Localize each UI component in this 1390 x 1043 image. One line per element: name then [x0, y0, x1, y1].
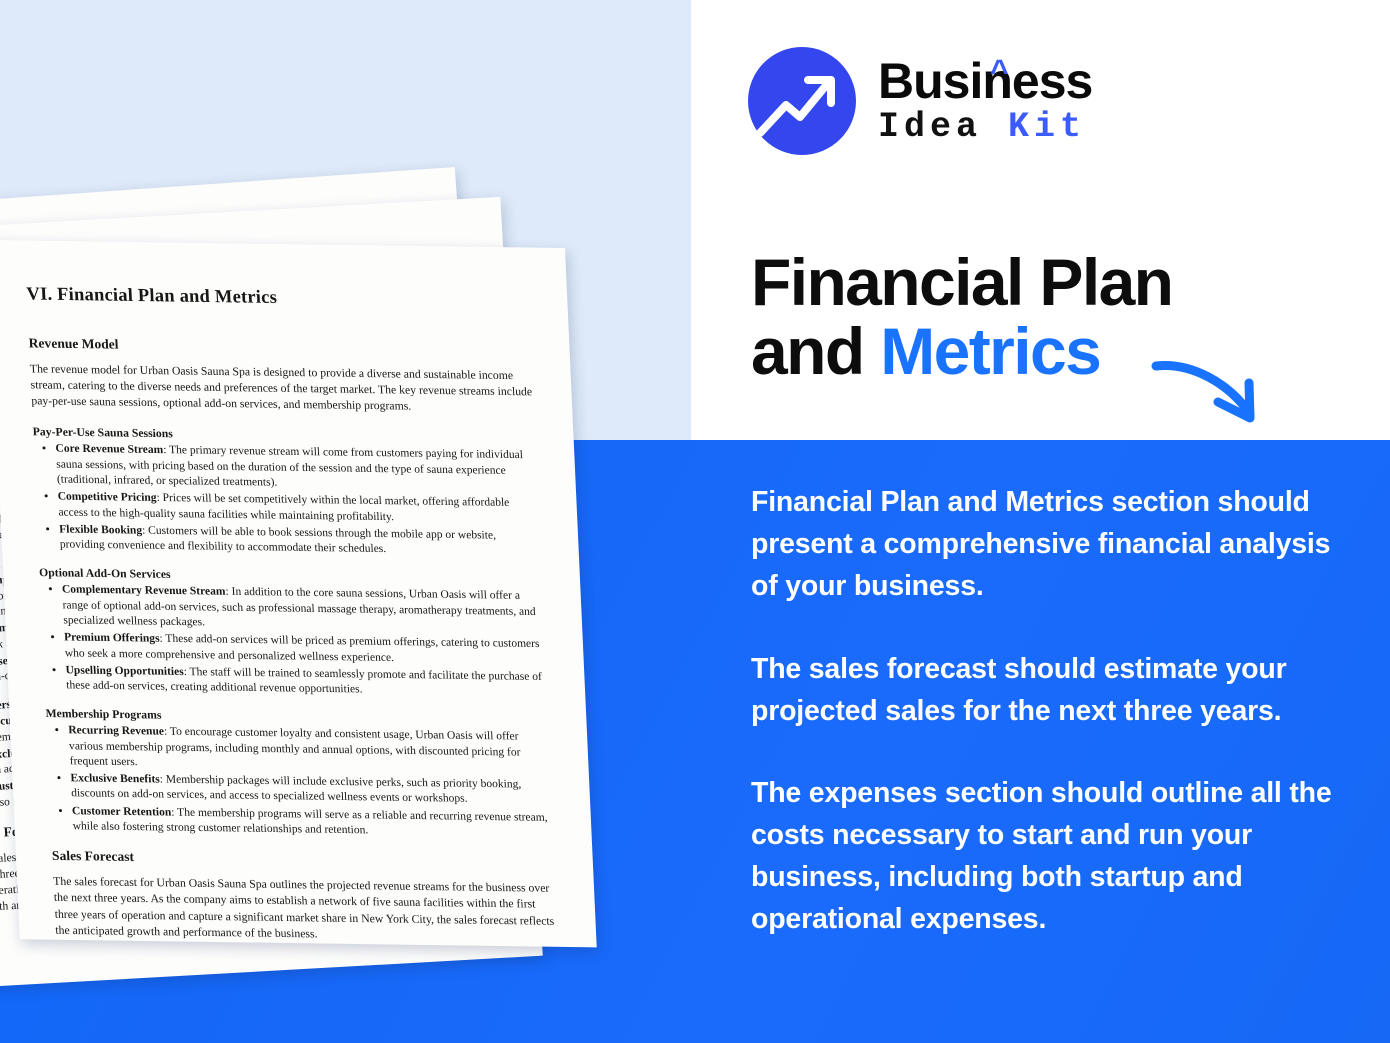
list-item: Exclusive Benefits: Membership packages … — [70, 771, 554, 808]
brand-name-business-text: Business — [878, 53, 1092, 109]
list-item: Upselling Opportunities: The staff will … — [65, 663, 549, 700]
doc-paragraph-sales-forecast: The sales forecast for Urban Oasis Sauna… — [53, 874, 561, 946]
list-item: Core Revenue Stream: The primary revenue… — [55, 442, 540, 495]
body-paragraph-3: The expenses section should outline all … — [751, 772, 1351, 941]
list-item: Recurring Revenue: To encourage customer… — [68, 724, 553, 777]
page-title-line1: Financial Plan — [751, 245, 1172, 319]
list-item: Complementary Revenue Stream: In additio… — [62, 583, 547, 636]
doc-paragraph-revenue-model: The revenue model for Urban Oasis Sauna … — [30, 361, 537, 416]
page-title-line2-accent: Metrics — [880, 314, 1100, 388]
body-copy: Financial Plan and Metrics section shoul… — [751, 481, 1351, 941]
doc-list-add-on: Complementary Revenue Stream: In additio… — [62, 583, 550, 701]
page-title-line2-prefix: and — [751, 314, 880, 388]
doc-title: VI. Financial Plan and Metrics — [26, 284, 532, 312]
body-paragraph-2: The sales forecast should estimate your … — [751, 648, 1351, 732]
circumflex-accent-icon: ^ — [990, 55, 1008, 87]
body-paragraph-1: Financial Plan and Metrics section shoul… — [751, 481, 1351, 608]
doc-list-membership: Recurring Revenue: To encourage customer… — [68, 724, 556, 842]
doc-heading-revenue-model: Revenue Model — [28, 335, 534, 358]
list-item: Customer Retention: The membership progr… — [72, 804, 556, 841]
list-item: Competitive Pricing: Prices will be set … — [57, 490, 541, 527]
brand-name-business: Business ^ — [878, 56, 1092, 107]
brand-logo[interactable]: Business ^ Idea Kit — [748, 47, 1092, 155]
list-item: Flexible Booking: Customers will be able… — [59, 522, 543, 559]
list-item: Premium Offerings: These add-on services… — [64, 631, 548, 668]
curved-arrow-down-right-icon — [1150, 352, 1280, 447]
brand-name-idea-text: Idea — [878, 107, 982, 147]
trending-up-arrow-icon — [748, 47, 856, 155]
brand-name-kit-text: Kit — [1008, 107, 1086, 147]
brand-name-idea-kit: Idea Kit — [878, 109, 1092, 146]
doc-heading-sales-forecast: Sales Forecast — [52, 848, 558, 871]
slide-canvas: VI. Financial Plan and Metrics Revenue M… — [0, 0, 1390, 1043]
doc-list-pay-per-use: Core Revenue Stream: The primary revenue… — [55, 442, 543, 560]
brand-wordmark: Business ^ Idea Kit — [878, 56, 1092, 146]
